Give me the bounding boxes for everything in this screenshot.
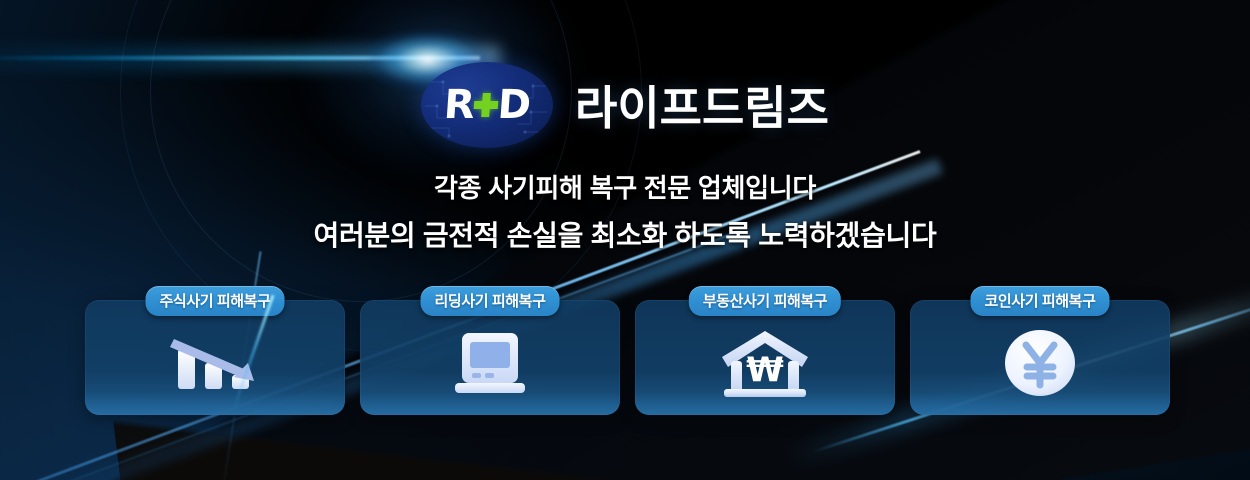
- promo-banner: R D 라이프드림즈 각종 사기피해 복구 전문 업체입니다 여러분의 금전적 …: [0, 0, 1250, 480]
- tagline-line-1: 각종 사기피해 복구 전문 업체입니다: [0, 168, 1250, 205]
- tagline-line-2: 여러분의 금전적 손실을 최소화 하도록 노력하겠습니다: [0, 214, 1250, 254]
- brand-header: R D 라이프드림즈: [0, 62, 1250, 148]
- logo-letter-d: D: [496, 82, 531, 128]
- service-card-realestate-fraud[interactable]: 부동산사기 피해복구 ₩: [635, 300, 895, 415]
- computer-monitor-icon: [435, 323, 545, 403]
- brand-name: 라이프드림즈: [575, 72, 829, 138]
- service-card-label: 코인사기 피해복구: [971, 286, 1110, 316]
- service-card-leading-fraud[interactable]: 리딩사기 피해복구: [360, 300, 620, 415]
- rd-logo-icon: R D: [421, 62, 553, 148]
- rd-logo-letters: R D: [442, 82, 531, 128]
- service-card-label: 주식사기 피해복구: [146, 286, 285, 316]
- service-card-list: 주식사기 피해복구: [85, 300, 1170, 415]
- service-card-coin-fraud[interactable]: 코인사기 피해복구: [910, 300, 1170, 415]
- service-card-label: 부동산사기 피해복구: [689, 286, 841, 316]
- green-plus-icon: [472, 92, 500, 118]
- house-won-icon: ₩: [710, 323, 820, 403]
- coin-yen-icon: [985, 323, 1095, 403]
- logo-letter-r: R: [442, 82, 475, 128]
- tagline: 각종 사기피해 복구 전문 업체입니다 여러분의 금전적 손실을 최소화 하도록…: [0, 168, 1250, 254]
- svg-text:₩: ₩: [746, 350, 784, 390]
- service-card-stock-fraud[interactable]: 주식사기 피해복구: [85, 300, 345, 415]
- service-card-label: 리딩사기 피해복구: [421, 286, 560, 316]
- declining-bar-chart-arrow-icon: [160, 323, 270, 403]
